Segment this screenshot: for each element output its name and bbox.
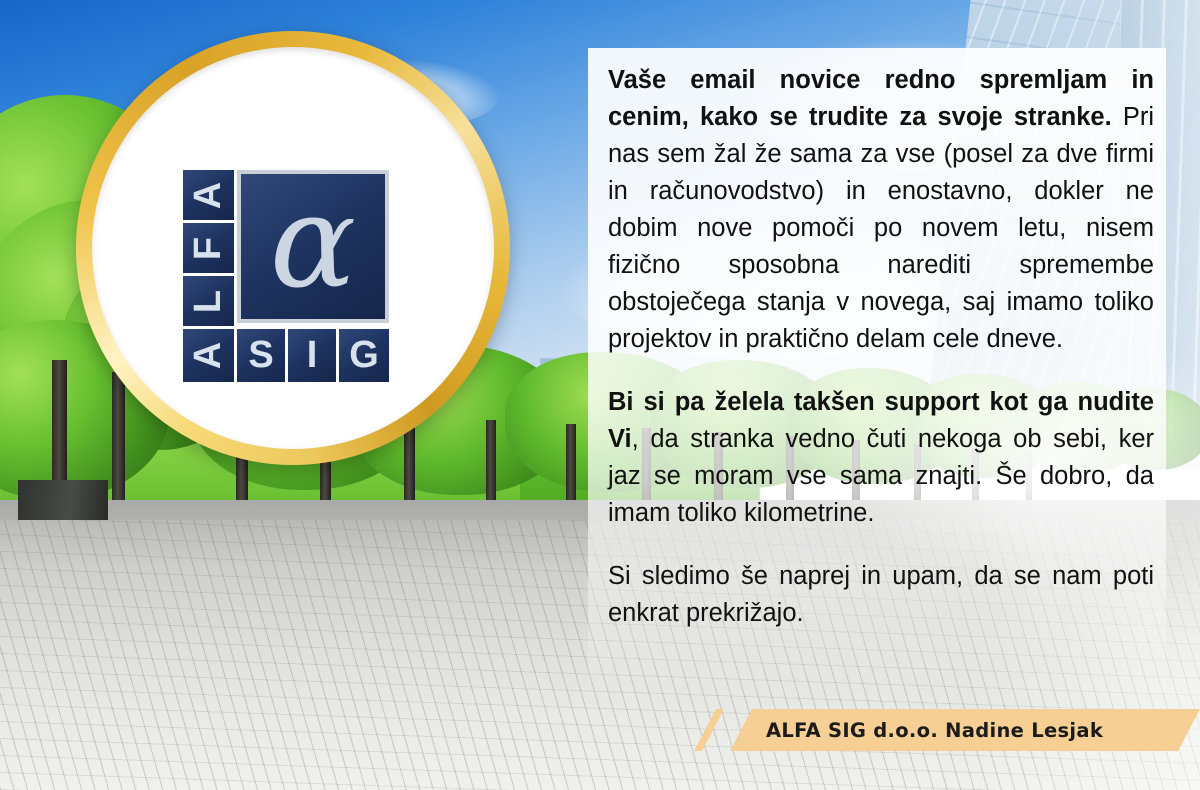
testimonial-panel: Vaše email novice redno spremljam in cen… <box>588 48 1166 708</box>
logo-letter: G <box>349 334 379 377</box>
logo-letter: S <box>248 334 273 377</box>
logo-tile-alpha: α <box>237 170 389 323</box>
logo-tile-s: S <box>237 329 285 382</box>
testimonial-paragraph: Vaše email novice redno spremljam in cen… <box>608 62 1154 358</box>
testimonial-body: Si sledimo še naprej in upam, da se nam … <box>608 562 1154 627</box>
testimonial-bold-lead: Vaše email novice redno spremljam in cen… <box>608 66 1154 131</box>
testimonial-text: Vaše email novice redno spremljam in cen… <box>608 62 1154 632</box>
logo-letter: A <box>187 181 230 208</box>
logo-tile-a-corner: A <box>183 329 234 382</box>
logo-letter: A <box>187 342 230 369</box>
attribution-banner: ALFA SIG d.o.o. Nadine Lesjak <box>694 709 1200 751</box>
logo-tile-i: I <box>288 329 336 382</box>
attribution-name: ALFA SIG d.o.o. Nadine Lesjak <box>766 719 1103 742</box>
testimonial-paragraph: Bi si pa želela takšen support kot ga nu… <box>608 384 1154 532</box>
logo-tile-f: F <box>183 223 234 273</box>
logo-letter: L <box>187 289 230 312</box>
banner-plate: ALFA SIG d.o.o. Nadine Lesjak <box>730 709 1200 751</box>
alpha-symbol-icon: α <box>270 179 356 307</box>
logo-letter: F <box>187 236 230 259</box>
testimonial-body: Pri nas sem žal že sama za vse (posel za… <box>608 103 1154 353</box>
logo-letter: I <box>307 334 318 377</box>
testimonial-graphic: A F L A α S I G Vaše email novice redno … <box>0 0 1200 790</box>
logo-tile-l: L <box>183 276 234 326</box>
testimonial-paragraph: Si sledimo še naprej in upam, da se nam … <box>608 558 1154 632</box>
alfa-sig-logo: A F L A α S I G <box>183 170 389 382</box>
logo-tile-g: G <box>339 329 389 382</box>
logo-tile-a-top: A <box>183 170 234 220</box>
banner-accent-chip <box>694 709 724 751</box>
testimonial-body: , da stranka vedno čuti nekoga ob sebi, … <box>608 425 1154 527</box>
